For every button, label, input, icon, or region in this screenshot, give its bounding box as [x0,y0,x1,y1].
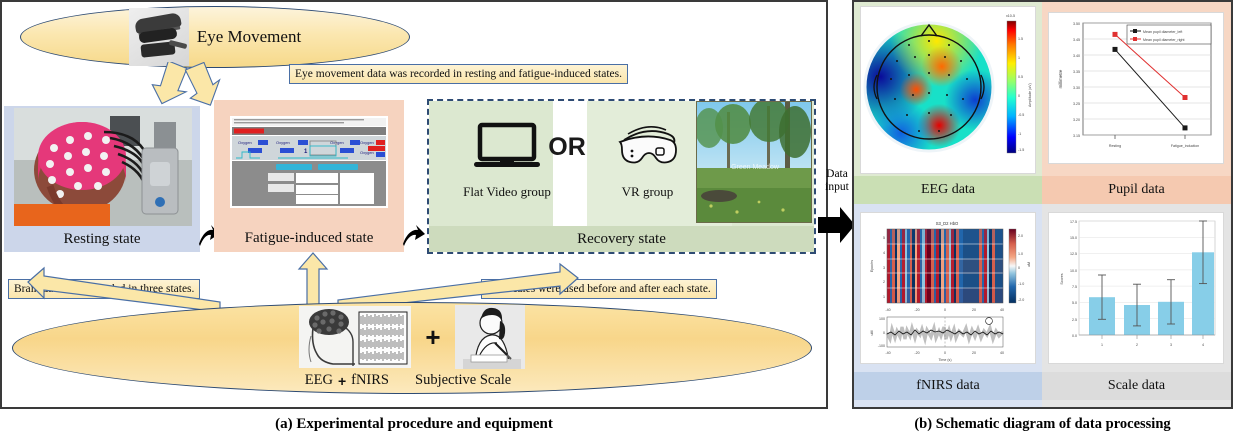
eye-movement-label: Eye Movement [197,27,301,47]
svg-text:0: 0 [1018,94,1020,98]
fnirs-hbo-chart: S3_D2 HbO [860,212,1036,364]
fnirs-label: fNIRS [351,372,389,389]
fnirs-ylabel: Epochs [870,260,874,272]
svg-text:-0.5: -0.5 [1018,113,1024,117]
svg-text:2.0: 2.0 [1018,234,1023,238]
svg-text:Oxygen: Oxygen [360,140,374,145]
svg-text:1: 1 [883,295,885,299]
eye-tracking-glasses-icon [129,8,189,66]
vr-group-label: VR group [600,184,695,200]
svg-text:-100: -100 [878,344,885,348]
svg-text:3.15: 3.15 [1073,134,1080,138]
pupil-legend-right: Mean pupil diameter_right [1143,38,1185,42]
svg-text:2: 2 [1136,343,1138,347]
subjective-scale-icon [455,305,525,369]
svg-text:2: 2 [883,280,885,284]
caption-panel-b: (b) Schematic diagram of data processing [852,409,1233,439]
svg-text:0: 0 [883,331,885,335]
pupil-xtick-fatigue: Fatigue_induction [1171,144,1199,148]
svg-text:40: 40 [1000,351,1004,355]
plus-icon: + [425,322,440,353]
svg-text:-1: -1 [1018,132,1021,136]
forest-scene-photo: Green Meadow [696,101,812,223]
svg-text:3.35: 3.35 [1073,70,1080,74]
svg-text:1.5: 1.5 [1018,37,1023,41]
scale-ylabel: Scores [1060,273,1064,284]
svg-text:3.30: 3.30 [1073,86,1080,90]
eeg-data-label: EEG data [854,176,1042,204]
svg-text:-1.0: -1.0 [1018,282,1024,286]
svg-text:15.0: 15.0 [1070,236,1077,240]
svg-text:20: 20 [972,308,976,312]
svg-text:-1.5: -1.5 [1018,148,1024,152]
svg-text:-40: -40 [885,351,890,355]
svg-text:12.5: 12.5 [1070,252,1077,256]
pupil-ylabel: millimetre [1058,69,1063,88]
fnirs-colorbar-label: uM [1027,262,1031,267]
or-label: OR [544,132,590,162]
svg-text:3.40: 3.40 [1073,54,1080,58]
pupil-diameter-chart: 3.153.203.25 3.303.353.40 3.453.50 milli… [1048,12,1224,164]
svg-text:1.0: 1.0 [1018,252,1023,256]
svg-text:20: 20 [972,351,976,355]
svg-text:1: 1 [1018,56,1020,60]
resting-state-photo [14,108,192,226]
svg-text:4: 4 [883,251,885,255]
svg-text:40: 40 [1000,308,1004,312]
svg-text:3.50: 3.50 [1073,22,1080,26]
svg-text:-20: -20 [914,308,919,312]
svg-text:-2.0: -2.0 [1018,298,1024,302]
subjective-scale-label: Subjective Scale [415,372,511,389]
note-eye-movement: Eye movement data was recorded in restin… [289,64,628,84]
arrow-fatigue-to-recovery [402,224,426,250]
svg-text:4: 4 [1202,343,1204,347]
svg-text:0: 0 [944,308,946,312]
fnirs-xlabel: Time (s) [938,358,951,362]
svg-text:3.45: 3.45 [1073,38,1080,42]
scale-data-label: Scale data [1042,372,1231,400]
svg-text:5: 5 [883,236,885,240]
svg-text:100: 100 [879,317,885,321]
figure-root: Eye Movement Eye movement data was recor… [0,0,1233,439]
flat-video-group-label: Flat Video group [442,184,572,200]
eeg-fnirs-equipment-icon [299,306,411,368]
pupil-data-label: Pupil data [1042,176,1231,204]
svg-text:1: 1 [1101,343,1103,347]
svg-text:-40: -40 [885,308,890,312]
svg-text:0.5: 0.5 [1018,75,1023,79]
scale-scores-chart: 0.02.55.0 7.510.012.5 15.017.5 Scores [1048,212,1224,364]
resting-state-label: Resting state [4,226,200,252]
svg-text:7.5: 7.5 [1072,285,1077,289]
fatigue-state-label: Fatigue-induced state [214,224,404,252]
svg-text:2.5: 2.5 [1072,318,1077,322]
pupil-xtick-resting: Resting [1109,144,1121,148]
svg-text:3.20: 3.20 [1073,118,1080,122]
eeg-label: EEG [305,372,333,389]
svg-text:3: 3 [1170,343,1172,347]
svg-text:3: 3 [883,266,885,270]
eeg-colorbar-exponent: x10-5 [1006,14,1015,18]
pupil-legend-left: Mean pupil diameter_left [1143,30,1182,34]
fatigue-task-screenshot: OxygenOxygen OxygenOxygen Oxygen [218,108,400,216]
svg-text:uM: uM [870,331,874,336]
fnirs-title: S3_D2 HbO [936,221,959,226]
fnirs-timeseries-subplot [887,317,1003,347]
eeg-fnirs-label: EEG + fNIRS [305,372,389,389]
svg-text:-20: -20 [914,351,919,355]
panel-experimental-procedure: Eye Movement Eye movement data was recor… [0,0,828,409]
eeg-topoplot-figure: x10-5 1.510.5 0-0.5-1 -1.5 Amplitude (uV… [860,6,1036,174]
plus-small-icon: + [338,373,346,389]
svg-text:0.0: 0.0 [1072,334,1077,338]
data-input-label: Data input [822,168,852,193]
svg-text:5.0: 5.0 [1072,301,1077,305]
svg-text:3.25: 3.25 [1073,102,1080,106]
fnirs-heatmap [887,229,1003,303]
svg-text:17.5: 17.5 [1070,220,1077,224]
svg-text:Oxygen: Oxygen [238,140,252,145]
svg-text:10.0: 10.0 [1070,269,1077,273]
svg-text:0: 0 [944,351,946,355]
eye-movement-oval: Eye Movement [20,6,410,68]
laptop-icon [472,122,542,174]
svg-text:Oxygen: Oxygen [276,140,290,145]
recovery-state-label: Recovery state [429,226,814,252]
svg-text:Amplitude (uV): Amplitude (uV) [1028,83,1032,107]
fnirs-data-label: fNIRS data [854,372,1042,400]
forest-watermark: Green Meadow [709,164,801,171]
caption-panel-a: (a) Experimental procedure and equipment [0,409,828,439]
svg-text:0: 0 [1018,266,1020,270]
equipment-labels-row: EEG + fNIRS Subjective Scale [193,372,623,389]
data-input-arrow [818,205,856,247]
equipment-oval: + [12,302,812,394]
vr-headset-icon [610,120,682,176]
